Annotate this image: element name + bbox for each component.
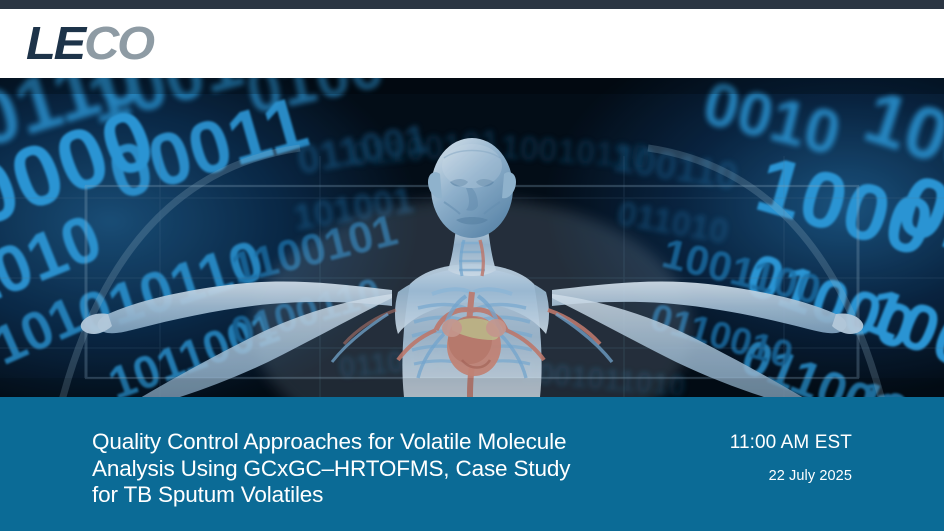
event-time: 11:00 AM EST (632, 431, 852, 455)
hero-illustration: 0110 1001 0100 0000 00011 1010 010110 01… (0, 78, 944, 397)
hero-image: 0110 1001 0100 0000 00011 1010 010110 01… (0, 78, 944, 397)
top-accent-bar (0, 0, 944, 9)
header-bar: LECO (0, 9, 944, 78)
logo-text-primary: LE (26, 17, 84, 69)
event-date: 22 July 2025 (632, 465, 852, 487)
webinar-title-slide: LECO (0, 0, 944, 531)
event-meta: 11:00 AM EST 22 July 2025 (632, 431, 852, 487)
page-title: Quality Control Approaches for Volatile … (92, 429, 692, 509)
leco-logo[interactable]: LECO (26, 20, 153, 66)
logo-text-secondary: CO (84, 17, 153, 69)
